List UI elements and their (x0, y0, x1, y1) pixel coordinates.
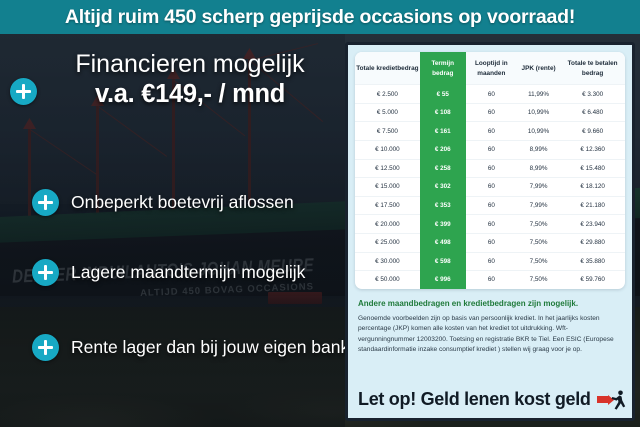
cell-totaal: € 21.180 (560, 196, 625, 215)
promo-bullet-label: Rente lager dan bij jouw eigen bank (71, 337, 349, 358)
cell-krediet: € 50.000 (355, 271, 420, 289)
cell-jkp: 7,99% (517, 178, 560, 197)
table-row: € 7.500€ 1616010,99%€ 9.660 (355, 122, 625, 141)
plus-icon (32, 259, 59, 286)
promo-headline-line2: v.a. €149,- / mnd (40, 80, 340, 109)
promo-column: Financieren mogelijk v.a. €149,- / mnd O… (0, 34, 350, 427)
plus-icon (10, 78, 37, 105)
cell-jkp: 7,50% (517, 233, 560, 252)
loan-table-container: Totale kredietbedrag Termijn bedrag Loop… (355, 52, 625, 289)
cell-looptijd: 60 (466, 122, 517, 141)
cell-looptijd: 60 (466, 159, 517, 178)
table-row: € 25.000€ 498607,50%€ 29.880 (355, 233, 625, 252)
cell-totaal: € 12.360 (560, 141, 625, 160)
table-header-row: Totale kredietbedrag Termijn bedrag Loop… (355, 52, 625, 85)
cell-termijn: € 161 (420, 122, 466, 141)
warning-text: Let op! Geld lenen kost geld (358, 389, 591, 410)
cell-jkp: 7,99% (517, 196, 560, 215)
cell-termijn: € 206 (420, 141, 466, 160)
loan-table: Totale kredietbedrag Termijn bedrag Loop… (355, 52, 625, 289)
column-header-jkp: JPK (rente) (517, 52, 560, 85)
cell-looptijd: 60 (466, 103, 517, 122)
cell-krediet: € 30.000 (355, 252, 420, 271)
warning-block: Let op! Geld lenen kost geld (358, 389, 622, 410)
table-row: € 20.000€ 399607,50%€ 23.940 (355, 215, 625, 234)
disclaimer-body: Genoemde voorbeelden zijn op basis van p… (358, 314, 622, 355)
table-row: € 10.000€ 206608,99%€ 12.360 (355, 141, 625, 160)
plus-icon (32, 334, 59, 361)
cell-krediet: € 25.000 (355, 233, 420, 252)
table-row: € 17.500€ 353607,99%€ 21.180 (355, 196, 625, 215)
plus-icon (32, 189, 59, 216)
cell-jkp: 7,50% (517, 271, 560, 289)
table-row: € 15.000€ 302607,99%€ 18.120 (355, 178, 625, 197)
cell-jkp: 8,99% (517, 141, 560, 160)
promo-bullet-rente: Rente lager dan bij jouw eigen bank (32, 334, 349, 361)
cell-jkp: 11,99% (517, 85, 560, 104)
cell-krediet: € 5.000 (355, 103, 420, 122)
cell-totaal: € 3.300 (560, 85, 625, 104)
cell-looptijd: 60 (466, 271, 517, 289)
cell-totaal: € 23.940 (560, 215, 625, 234)
cell-krediet: € 15.000 (355, 178, 420, 197)
cell-totaal: € 6.480 (560, 103, 625, 122)
cell-jkp: 7,50% (517, 215, 560, 234)
cell-jkp: 10,99% (517, 122, 560, 141)
cell-totaal: € 29.880 (560, 233, 625, 252)
promo-bullet-aflossen: Onbeperkt boetevrij aflossen (32, 189, 294, 216)
cell-looptijd: 60 (466, 215, 517, 234)
cell-totaal: € 18.120 (560, 178, 625, 197)
cell-krediet: € 20.000 (355, 215, 420, 234)
cell-krediet: € 2.500 (355, 85, 420, 104)
cell-looptijd: 60 (466, 141, 517, 160)
promo-headline-line1: Financieren mogelijk (75, 50, 304, 78)
cell-looptijd: 60 (466, 252, 517, 271)
loan-info-card: Totale kredietbedrag Termijn bedrag Loop… (345, 42, 635, 421)
column-header-krediet: Totale kredietbedrag (355, 52, 420, 85)
promo-headline: Financieren mogelijk v.a. €149,- / mnd (40, 50, 340, 109)
cell-termijn: € 399 (420, 215, 466, 234)
cell-termijn: € 55 (420, 85, 466, 104)
table-row: € 2.500€ 556011,99%€ 3.300 (355, 85, 625, 104)
top-banner-text: Altijd ruim 450 scherp geprijsde occasio… (65, 6, 575, 29)
table-row: € 12.500€ 258608,99%€ 15.480 (355, 159, 625, 178)
cell-totaal: € 15.480 (560, 159, 625, 178)
cell-termijn: € 258 (420, 159, 466, 178)
advertisement-banner: Altijd ruim 450 scherp geprijsde occasio… (0, 0, 640, 427)
cell-krediet: € 17.500 (355, 196, 420, 215)
promo-bullet-financiering (10, 78, 37, 105)
cell-looptijd: 60 (466, 196, 517, 215)
cell-looptijd: 60 (466, 85, 517, 104)
loan-table-body: € 2.500€ 556011,99%€ 3.300€ 5.000€ 10860… (355, 85, 625, 289)
top-banner: Altijd ruim 450 scherp geprijsde occasio… (0, 0, 640, 34)
column-header-totaal: Totale te betalen bedrag (560, 52, 625, 85)
cell-totaal: € 35.880 (560, 252, 625, 271)
promo-bullet-label: Lagere maandtermijn mogelijk (71, 262, 305, 283)
red-arrow-icon (597, 396, 609, 403)
disclaimer-title: Andere maandbedragen en kredietbedragen … (358, 299, 622, 309)
afm-logo (597, 390, 626, 410)
running-man-icon (610, 390, 626, 410)
table-row: € 50.000€ 996607,50%€ 59.760 (355, 271, 625, 289)
cell-jkp: 8,99% (517, 159, 560, 178)
cell-termijn: € 598 (420, 252, 466, 271)
cell-termijn: € 108 (420, 103, 466, 122)
promo-bullet-label: Onbeperkt boetevrij aflossen (71, 192, 294, 213)
cell-termijn: € 996 (420, 271, 466, 289)
cell-krediet: € 12.500 (355, 159, 420, 178)
cell-krediet: € 7.500 (355, 122, 420, 141)
cell-termijn: € 353 (420, 196, 466, 215)
cell-jkp: 7,50% (517, 252, 560, 271)
cell-krediet: € 10.000 (355, 141, 420, 160)
table-row: € 5.000€ 1086010,99%€ 6.480 (355, 103, 625, 122)
cell-looptijd: 60 (466, 178, 517, 197)
table-row: € 30.000€ 598607,50%€ 35.880 (355, 252, 625, 271)
cell-termijn: € 302 (420, 178, 466, 197)
cell-jkp: 10,99% (517, 103, 560, 122)
cell-termijn: € 498 (420, 233, 466, 252)
promo-bullet-maandtermijn: Lagere maandtermijn mogelijk (32, 259, 305, 286)
cell-looptijd: 60 (466, 233, 517, 252)
column-header-termijn: Termijn bedrag (420, 52, 466, 85)
cell-totaal: € 59.760 (560, 271, 625, 289)
cell-totaal: € 9.660 (560, 122, 625, 141)
column-header-looptijd: Looptijd in maanden (466, 52, 517, 85)
